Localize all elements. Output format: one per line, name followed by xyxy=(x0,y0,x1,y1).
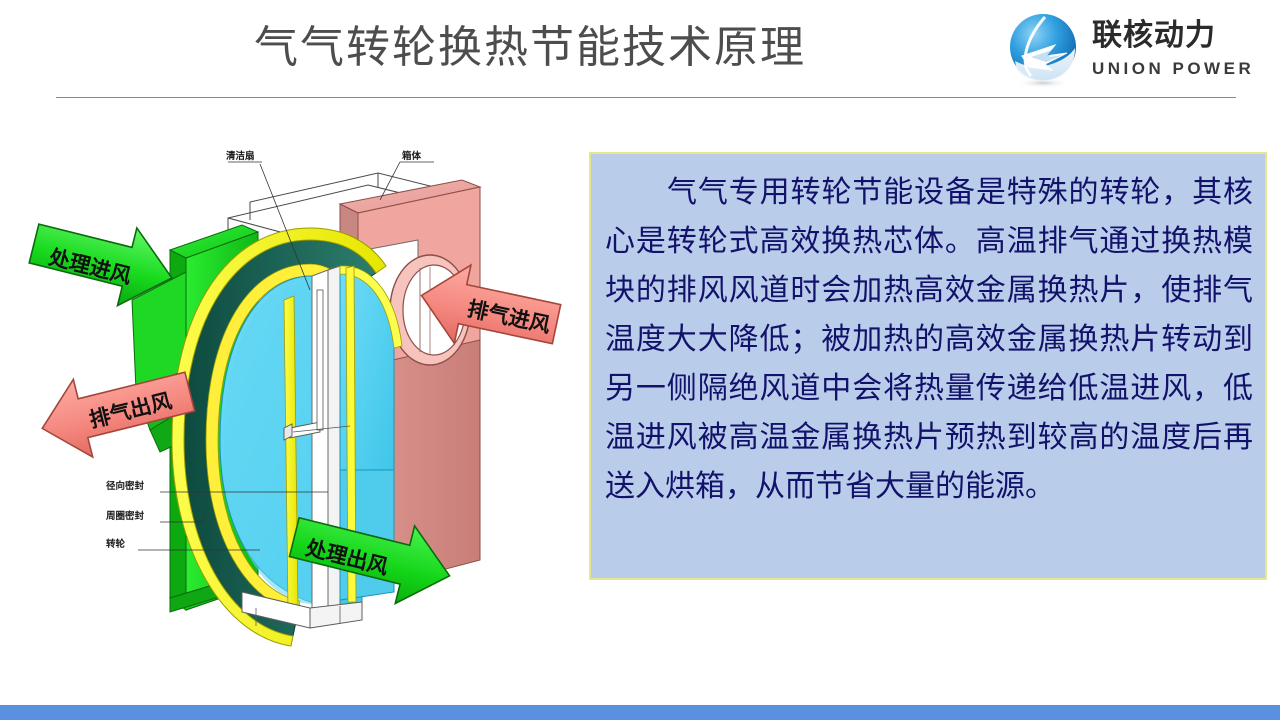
callout-label-circum-seal: 周圈密封 xyxy=(106,510,145,522)
callout-label-housing: 箱体 xyxy=(401,150,422,162)
diagram-svg: 清洁扇 箱体 径向密封 周圈密封 转轮 xyxy=(10,140,585,660)
description-paragraph: 气气专用转轮节能设备是特殊的转轮，其核心是转轮式高效换热芯体。高温排气通过换热模… xyxy=(605,168,1253,511)
page-title: 气气转轮换热节能技术原理 xyxy=(0,20,1060,76)
callout-label-radial-seal: 径向密封 xyxy=(106,480,145,492)
slide-header: 气气转轮换热节能技术原理 xyxy=(0,0,1280,100)
logo-wordmark: 联核动力 UNION POWER xyxy=(1092,18,1268,80)
description-panel: 气气专用转轮节能设备是特殊的转轮，其核心是转轮式高效换热芯体。高温排气通过换热模… xyxy=(589,152,1267,580)
footer-accent-bar xyxy=(0,705,1280,720)
heat-wheel-diagram: 清洁扇 箱体 径向密封 周圈密封 转轮 xyxy=(10,140,585,660)
callout-label-rotor: 转轮 xyxy=(106,538,126,550)
slide-root: 气气转轮换热节能技术原理 xyxy=(0,0,1280,720)
company-logo: 联核动力 UNION POWER xyxy=(1000,8,1268,94)
union-power-globe-icon xyxy=(1005,12,1083,90)
callout-label-clean-fan: 清洁扇 xyxy=(226,150,255,162)
header-divider xyxy=(56,97,1236,98)
logo-company-en: UNION POWER xyxy=(1092,58,1268,80)
logo-company-cn: 联核动力 xyxy=(1092,18,1268,54)
